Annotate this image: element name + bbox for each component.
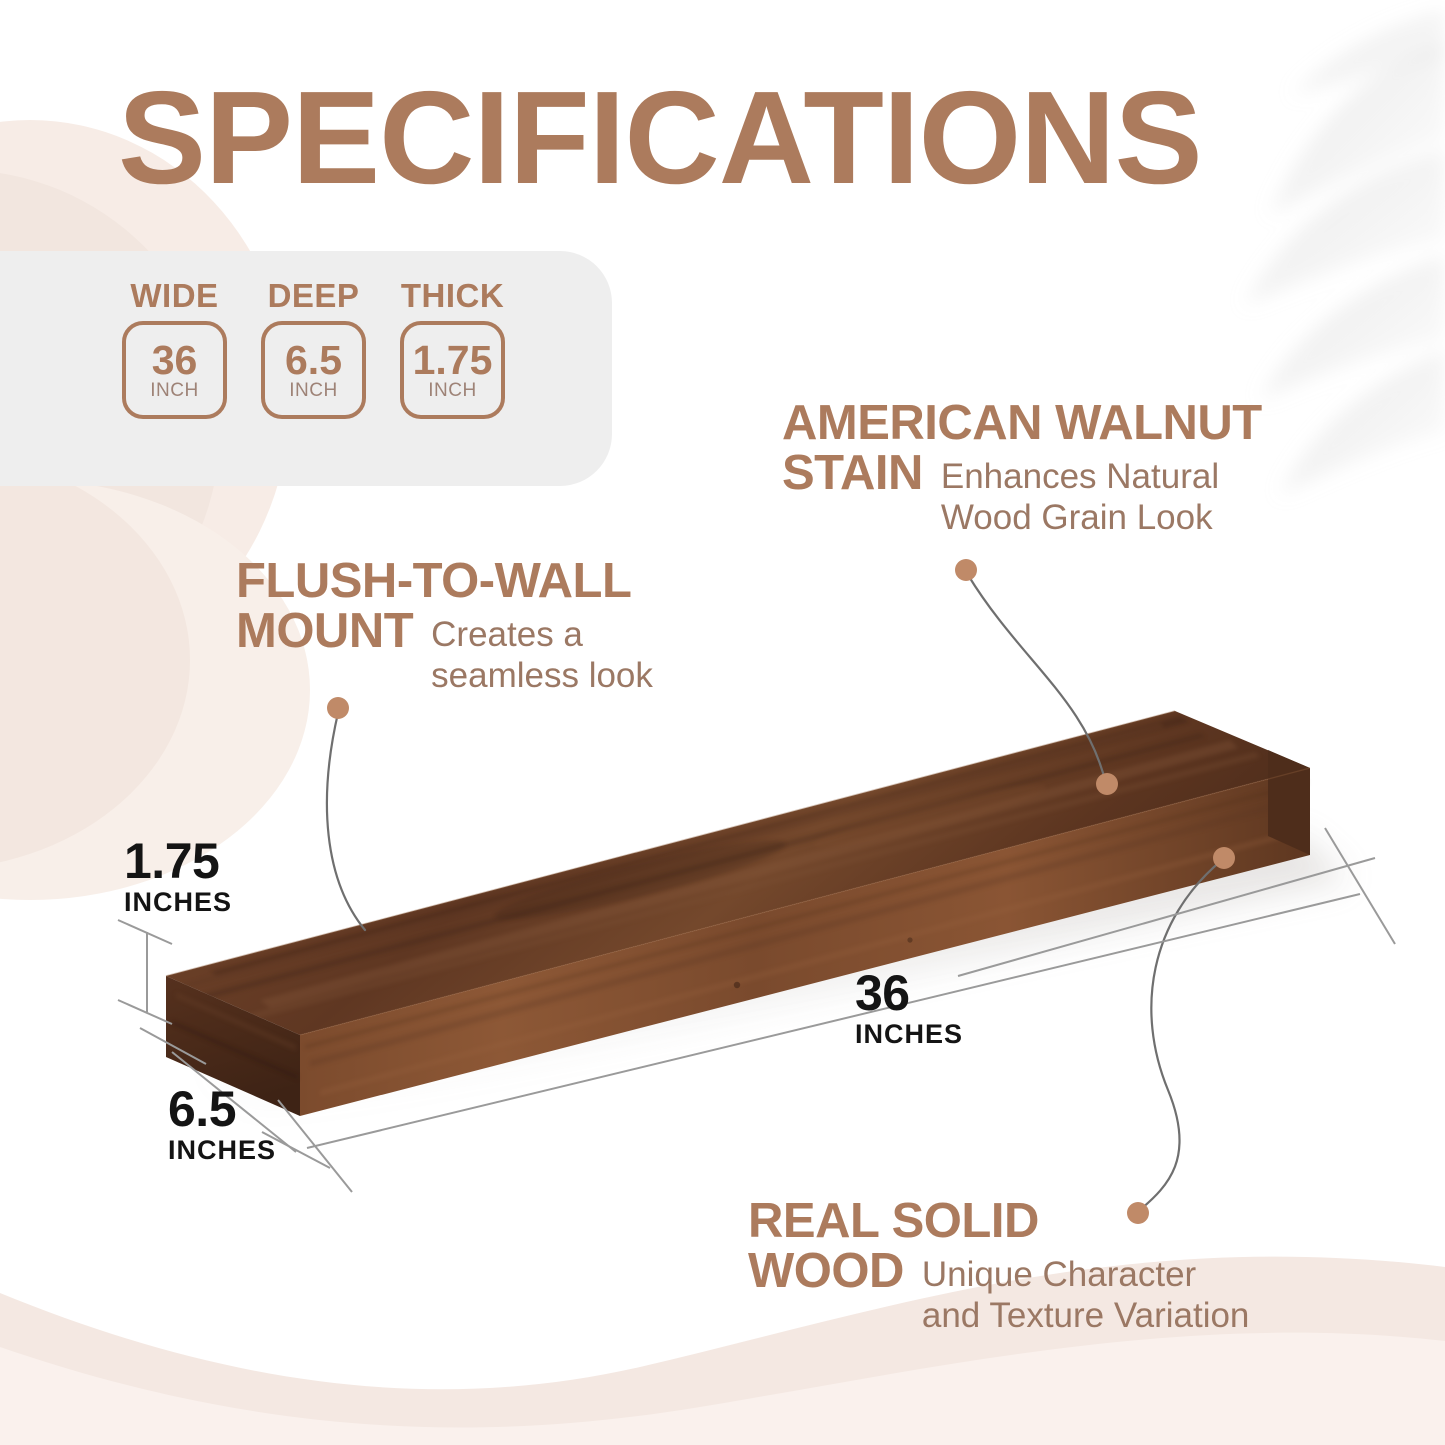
- dimension-unit: INCHES: [168, 1137, 276, 1164]
- page-title: SPECIFICATIONS: [118, 72, 1202, 204]
- dimension-label-depth: 6.5 INCHES: [168, 1084, 276, 1164]
- feature-description: Enhances Natural Wood Grain Look: [941, 449, 1219, 538]
- spec-badge-label: WIDE: [130, 279, 218, 312]
- specifications-infographic: SPECIFICATIONS WIDE 36 INCH DEEP 6.5 INC…: [0, 0, 1445, 1445]
- feature-description: Creates a seamless look: [431, 607, 653, 696]
- feature-title-row2: WOOD Unique Character and Texture Variat…: [748, 1247, 1249, 1336]
- spec-badge-value: 1.75: [413, 340, 493, 380]
- feature-title-line2: MOUNT: [236, 607, 413, 656]
- feature-title-row2: MOUNT Creates a seamless look: [236, 607, 653, 696]
- spec-badge-unit: INCH: [428, 381, 476, 400]
- spec-badge-value: 6.5: [285, 340, 342, 380]
- feature-title-line2: STAIN: [782, 449, 923, 498]
- feature-title-line1: FLUSH-TO-WALL: [236, 554, 631, 608]
- spec-badge-box: 1.75 INCH: [400, 321, 505, 419]
- spec-badge-group: WIDE 36 INCH DEEP 6.5 INCH THICK 1.75 IN…: [118, 279, 509, 419]
- spec-badge-unit: INCH: [150, 381, 198, 400]
- spec-badge-box: 36 INCH: [122, 321, 227, 419]
- dimension-unit: INCHES: [124, 889, 232, 916]
- dimension-label-thickness: 1.75 INCHES: [124, 836, 232, 916]
- spec-badge-deep: DEEP 6.5 INCH: [257, 279, 370, 419]
- feature-title-line1: REAL SOLID: [748, 1194, 1039, 1248]
- feature-title-line2: WOOD: [748, 1247, 904, 1296]
- feature-description: Unique Character and Texture Variation: [922, 1247, 1250, 1336]
- feature-callout-flush-mount: FLUSH-TO-WALL MOUNT Creates a seamless l…: [236, 556, 653, 696]
- spec-badge-unit: INCH: [289, 381, 337, 400]
- spec-badge-label: DEEP: [268, 279, 360, 312]
- feature-title-line1: AMERICAN WALNUT: [782, 396, 1262, 450]
- spec-badge-thick: THICK 1.75 INCH: [396, 279, 509, 419]
- spec-badge-label: THICK: [401, 279, 504, 312]
- dimension-value: 36: [855, 968, 963, 1018]
- dimension-value: 1.75: [124, 836, 232, 886]
- feature-callout-solid-wood: REAL SOLID WOOD Unique Character and Tex…: [748, 1196, 1249, 1336]
- feature-callout-walnut-stain: AMERICAN WALNUT STAIN Enhances Natural W…: [782, 398, 1262, 538]
- spec-badge-box: 6.5 INCH: [261, 321, 366, 419]
- dimension-label-width: 36 INCHES: [855, 968, 963, 1048]
- dimension-unit: INCHES: [855, 1021, 963, 1048]
- feature-title-row2: STAIN Enhances Natural Wood Grain Look: [782, 449, 1262, 538]
- spec-badge-value: 36: [152, 340, 198, 380]
- dimension-value: 6.5: [168, 1084, 276, 1134]
- spec-badge-wide: WIDE 36 INCH: [118, 279, 231, 419]
